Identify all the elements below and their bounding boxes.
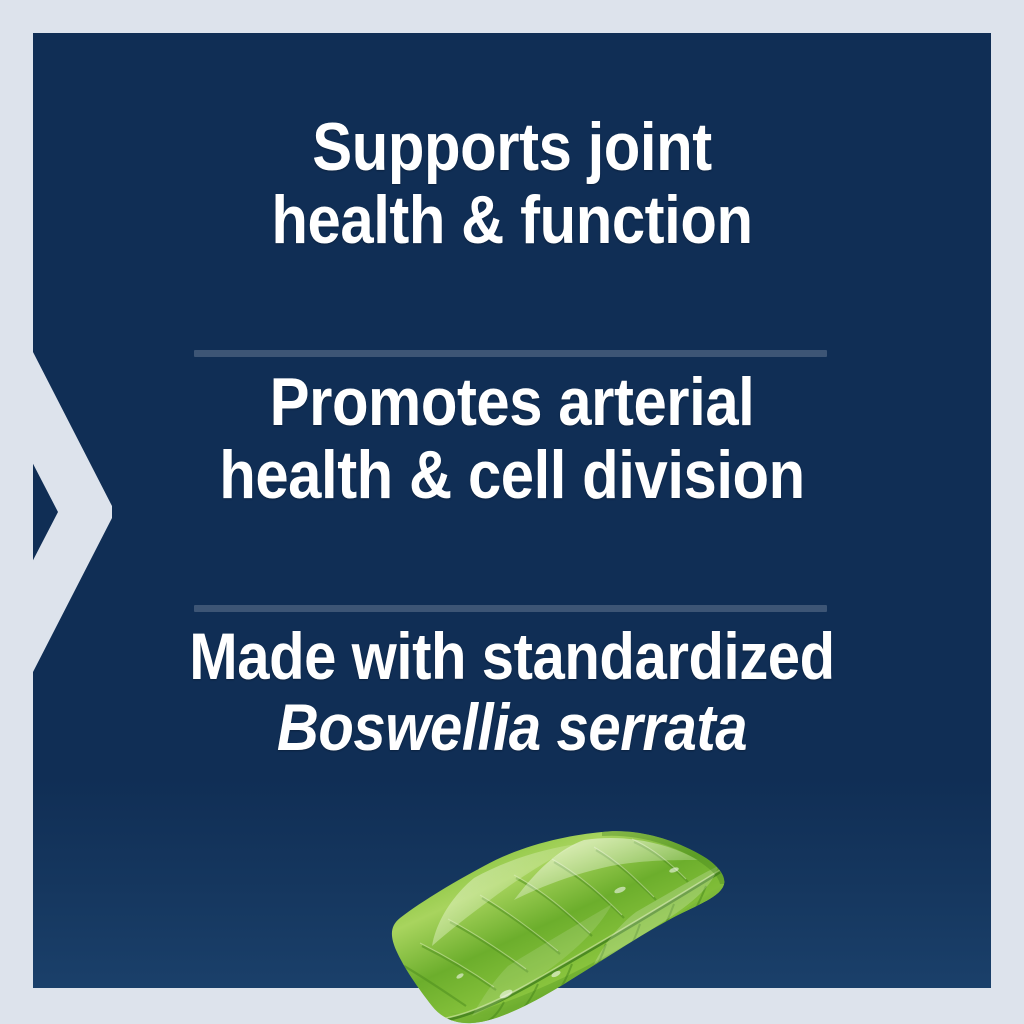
- benefit-line-1: Promotes arterial: [90, 366, 933, 439]
- section-divider: [194, 350, 827, 357]
- benefit-line-1: Supports joint: [90, 111, 933, 184]
- benefit-line-1: Made with standardized: [90, 621, 933, 692]
- chevron-right-icon: [0, 352, 112, 672]
- green-leaf-image: [388, 826, 728, 1024]
- benefit-line-2-scientific-name: Boswellia serrata: [90, 692, 933, 763]
- benefit-line-2: health & function: [90, 184, 933, 257]
- benefit-line-2: health & cell division: [90, 439, 933, 512]
- benefit-arterial-health: Promotes arterial health & cell division: [90, 366, 933, 512]
- section-divider: [194, 605, 827, 612]
- benefit-joint-health: Supports joint health & function: [90, 111, 933, 257]
- benefit-standardized-extract: Made with standardized Boswellia serrata: [90, 621, 933, 762]
- infographic-canvas: Supports joint health & function Promote…: [0, 0, 1024, 1024]
